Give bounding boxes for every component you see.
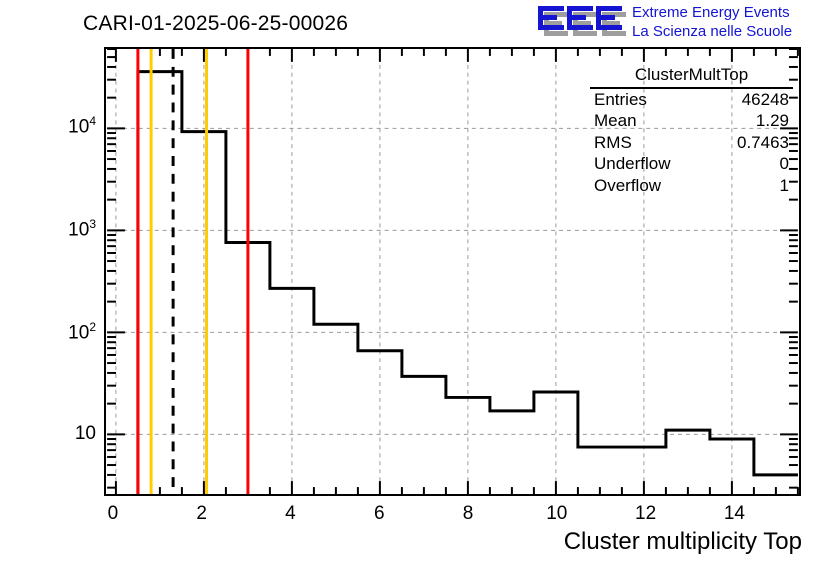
stats-value-mean: 1.29 — [756, 110, 789, 132]
eee-logo-text: Extreme Energy Events La Scienza nelle S… — [632, 3, 792, 41]
y-tick-label: 104 — [68, 114, 96, 138]
stats-value-entries: 46248 — [742, 89, 789, 111]
stats-label-entries: Entries — [594, 89, 647, 111]
stats-row: Underflow 0 — [590, 153, 793, 175]
eee-logo-line2: La Scienza nelle Scuole — [632, 22, 792, 41]
y-tick-label: 10 — [75, 423, 96, 445]
stats-row: Mean 1.29 — [590, 110, 793, 132]
root-canvas: CARI-01-2025-06-25-00026 — [0, 0, 836, 572]
eee-logo: Extreme Energy Events La Scienza nelle S… — [536, 2, 832, 44]
stats-value-overflow: 1 — [780, 175, 789, 197]
x-tick-label: 4 — [270, 503, 310, 525]
eee-logo-line1: Extreme Energy Events — [632, 3, 792, 22]
stats-value-rms: 0.7463 — [737, 132, 789, 154]
stats-row: RMS 0.7463 — [590, 132, 793, 154]
x-tick-label: 8 — [448, 503, 488, 525]
stats-box: ClusterMultTop Entries 46248 Mean 1.29 R… — [590, 64, 793, 196]
x-tick-label: 14 — [714, 503, 754, 525]
eee-mark-icon — [536, 4, 628, 40]
y-tick-label: 102 — [68, 320, 96, 344]
stats-label-underflow: Underflow — [594, 153, 671, 175]
x-tick-label: 12 — [626, 503, 666, 525]
y-tick-label: 103 — [68, 217, 96, 241]
stats-title: ClusterMultTop — [590, 64, 793, 89]
page-title: CARI-01-2025-06-25-00026 — [83, 12, 348, 36]
x-tick-label: 0 — [93, 503, 133, 525]
stats-label-rms: RMS — [594, 132, 632, 154]
stats-label-overflow: Overflow — [594, 175, 661, 197]
stats-row: Entries 46248 — [590, 89, 793, 111]
stats-label-mean: Mean — [594, 110, 637, 132]
stats-value-underflow: 0 — [780, 153, 789, 175]
x-axis-title: Cluster multiplicity Top — [564, 528, 802, 556]
x-tick-label: 2 — [182, 503, 222, 525]
x-tick-label: 10 — [537, 503, 577, 525]
stats-row: Overflow 1 — [590, 175, 793, 197]
x-tick-label: 6 — [359, 503, 399, 525]
